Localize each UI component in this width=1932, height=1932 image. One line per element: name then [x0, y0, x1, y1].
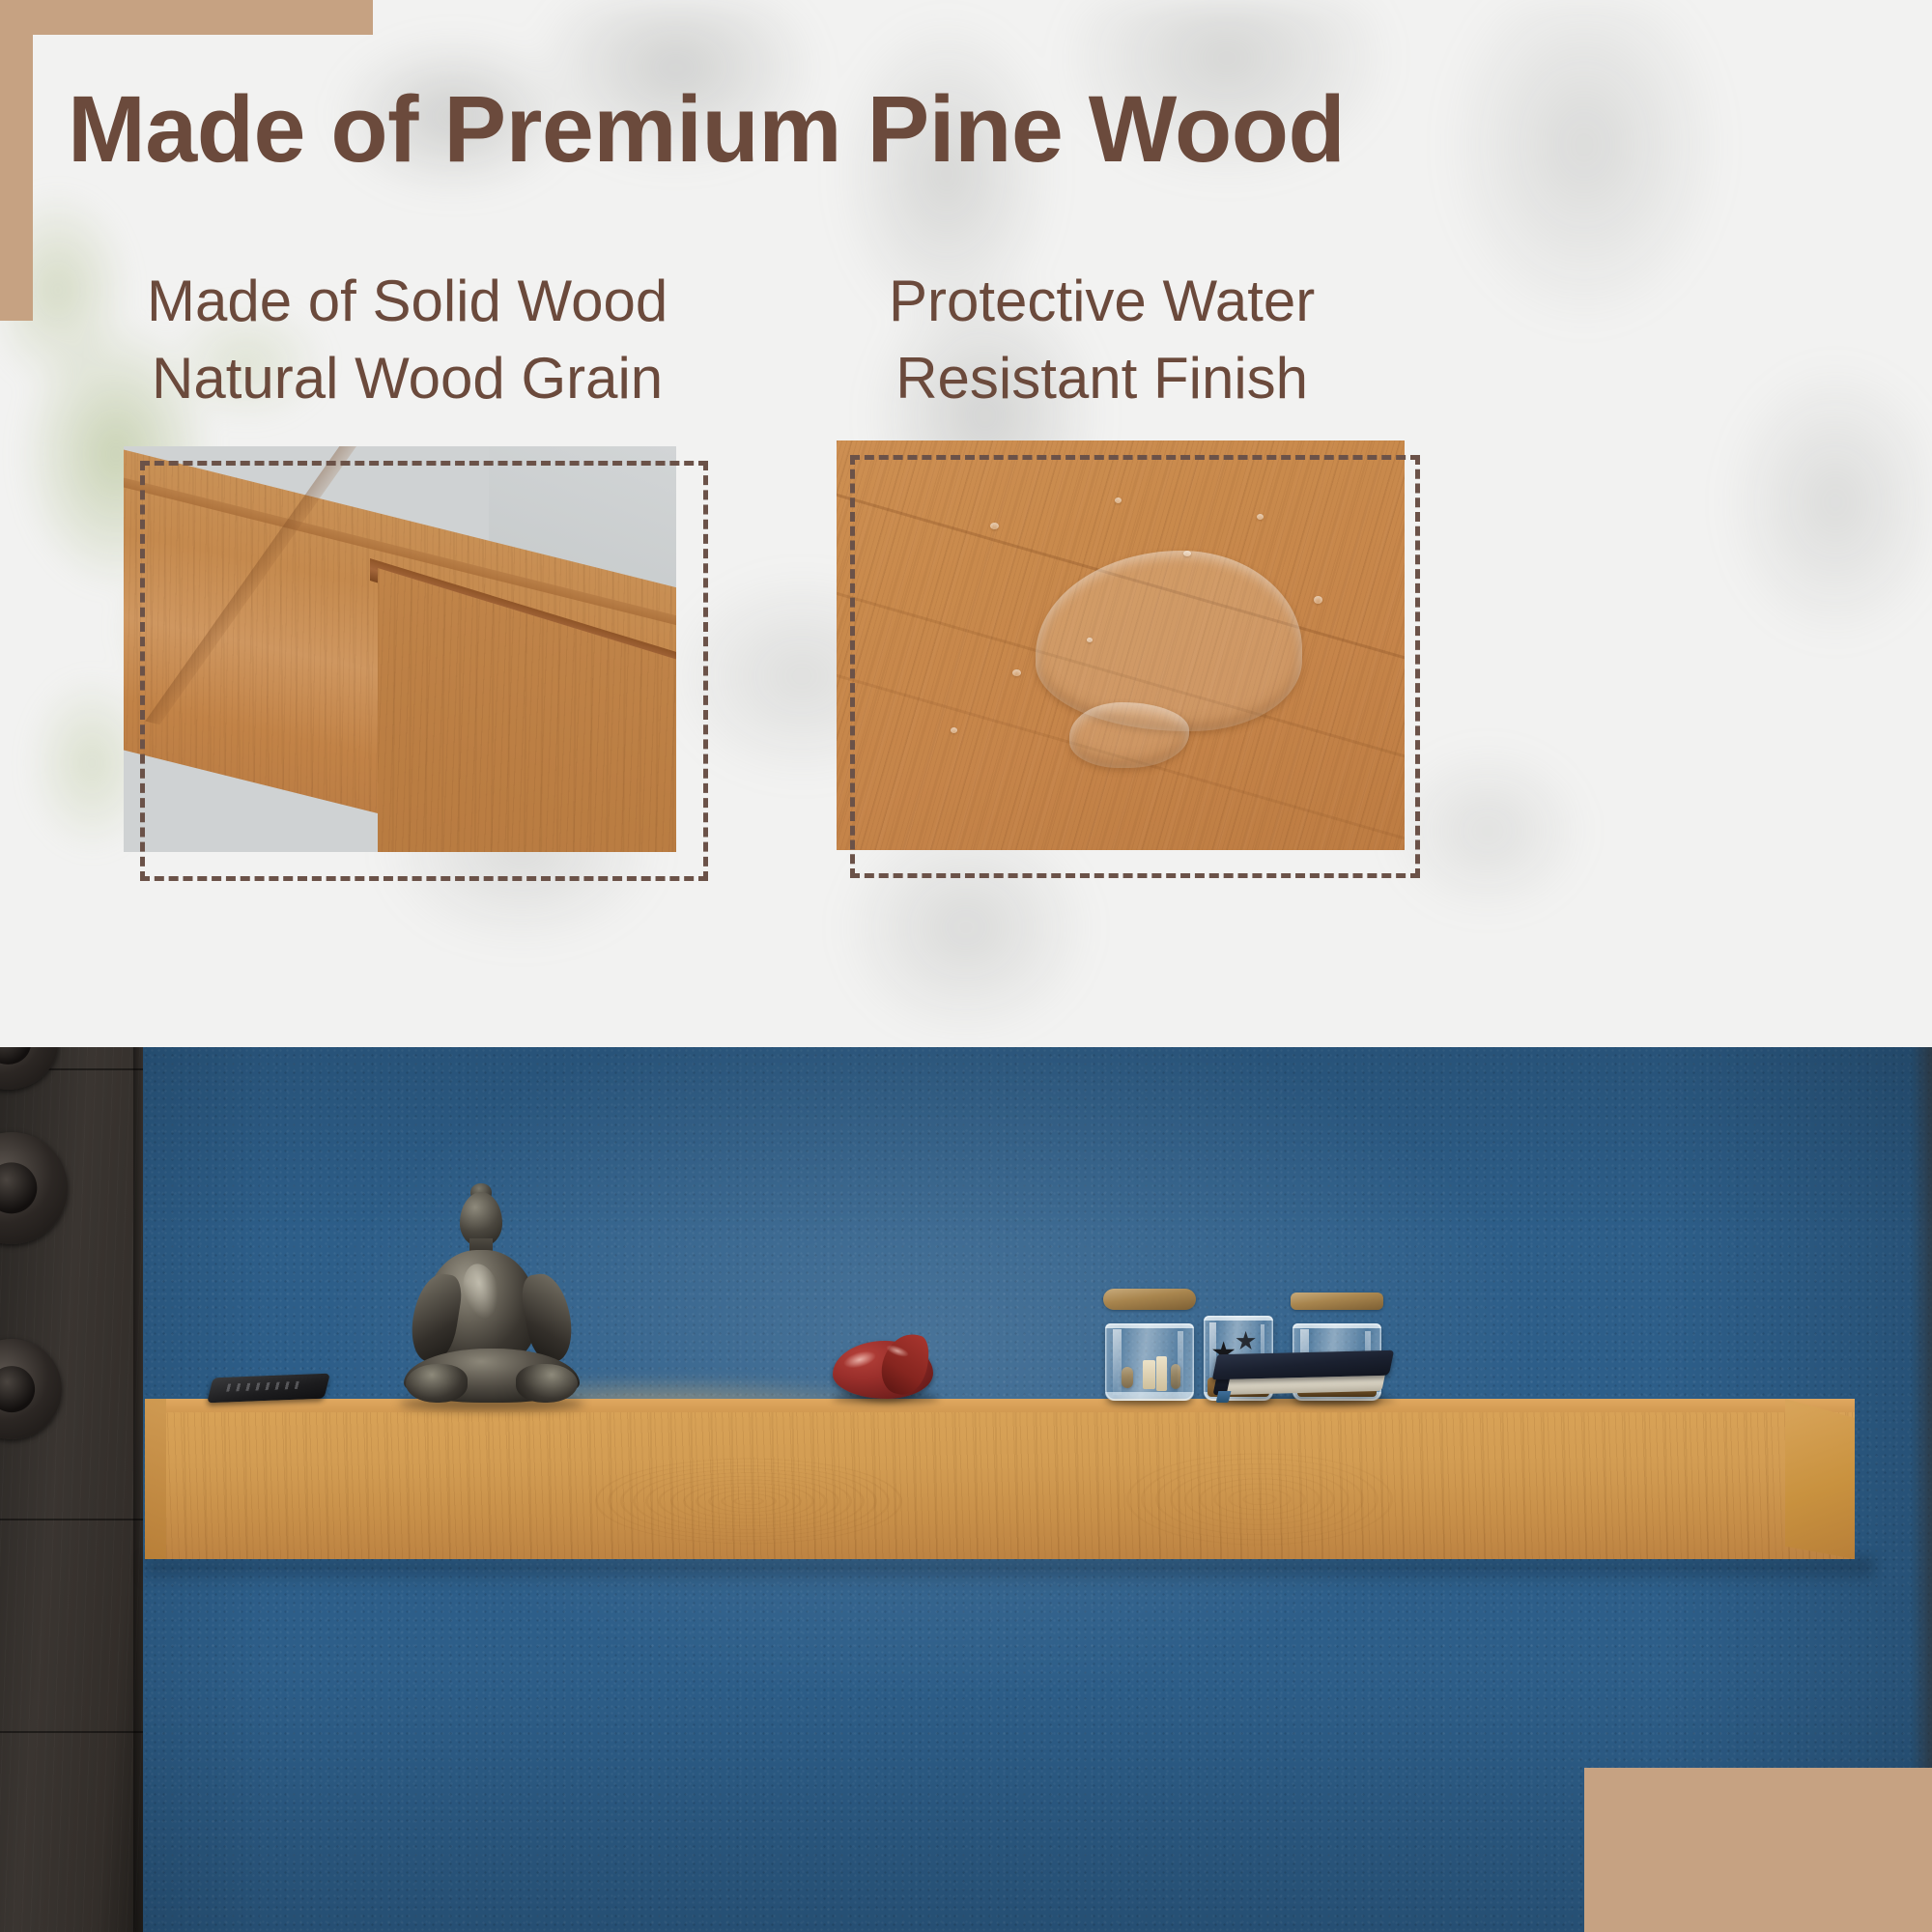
water-speck	[1115, 497, 1122, 503]
book-cover	[1212, 1350, 1394, 1379]
corner-accent-vertical	[0, 0, 33, 321]
shelf-right-endcap	[1785, 1399, 1855, 1559]
speaker-seam	[0, 1519, 143, 1520]
corner-accent-bottom-right	[1584, 1768, 1932, 1932]
hardcover-book	[1215, 1352, 1397, 1403]
shelf-front-face	[145, 1412, 1855, 1559]
book-shadow	[1221, 1395, 1395, 1405]
bronze-buddha-statue	[404, 1192, 580, 1401]
shelf-grain	[1120, 1451, 1400, 1548]
feature-caption-left: Made of Solid Wood Natural Wood Grain	[147, 263, 668, 417]
jar-twig	[1171, 1364, 1180, 1389]
water-droplet-large	[1036, 551, 1302, 731]
water-speck	[1087, 638, 1093, 642]
jar-star	[1236, 1331, 1256, 1351]
statue-knee-left	[406, 1364, 468, 1403]
wood-box-corner-image	[124, 446, 676, 852]
tv-remote	[207, 1374, 330, 1404]
feature-photo-water-resistant	[837, 440, 1405, 850]
feature-caption-right: Protective Water Resistant Finish	[889, 263, 1315, 417]
shelf-left-edge	[145, 1399, 166, 1559]
water-droplet-small	[1069, 702, 1188, 768]
water-speck	[1314, 596, 1322, 604]
speaker-seam	[0, 1731, 143, 1733]
corner-accent-horizontal	[0, 0, 373, 35]
jar-driftwood-lid	[1103, 1289, 1196, 1310]
statue-knee-right	[516, 1364, 578, 1403]
jar-driftwood-lid	[1291, 1293, 1383, 1310]
water-speck	[990, 523, 999, 529]
speaker-edge	[133, 1047, 143, 1932]
water-speck	[1012, 669, 1021, 676]
jar-candle	[1156, 1356, 1167, 1391]
feature-caption-left-line2: Natural Wood Grain	[147, 340, 668, 417]
shelf-drop-shadow	[145, 1559, 1874, 1584]
floating-wood-shelf	[145, 1399, 1855, 1559]
water-speck	[1257, 514, 1264, 520]
feature-caption-right-line2: Resistant Finish	[889, 340, 1315, 417]
jar-candle	[1143, 1360, 1155, 1389]
red-ceramic-ornament	[833, 1331, 945, 1401]
feature-caption-right-line1: Protective Water	[889, 263, 1315, 340]
promo-image-canvas: Made of Premium Pine Wood Made of Solid …	[0, 0, 1932, 1932]
shelf-grain	[589, 1457, 908, 1546]
feature-photo-solid-wood	[124, 446, 676, 852]
book-bookmark	[1216, 1391, 1232, 1403]
jar-twig	[1122, 1367, 1133, 1388]
wood-plank-image	[837, 440, 1405, 850]
water-speck	[951, 727, 957, 733]
feature-caption-left-line1: Made of Solid Wood	[147, 263, 668, 340]
glass-jar-driftwood	[1105, 1323, 1194, 1401]
page-title: Made of Premium Pine Wood	[68, 75, 1345, 184]
speaker-tower	[0, 1047, 143, 1932]
